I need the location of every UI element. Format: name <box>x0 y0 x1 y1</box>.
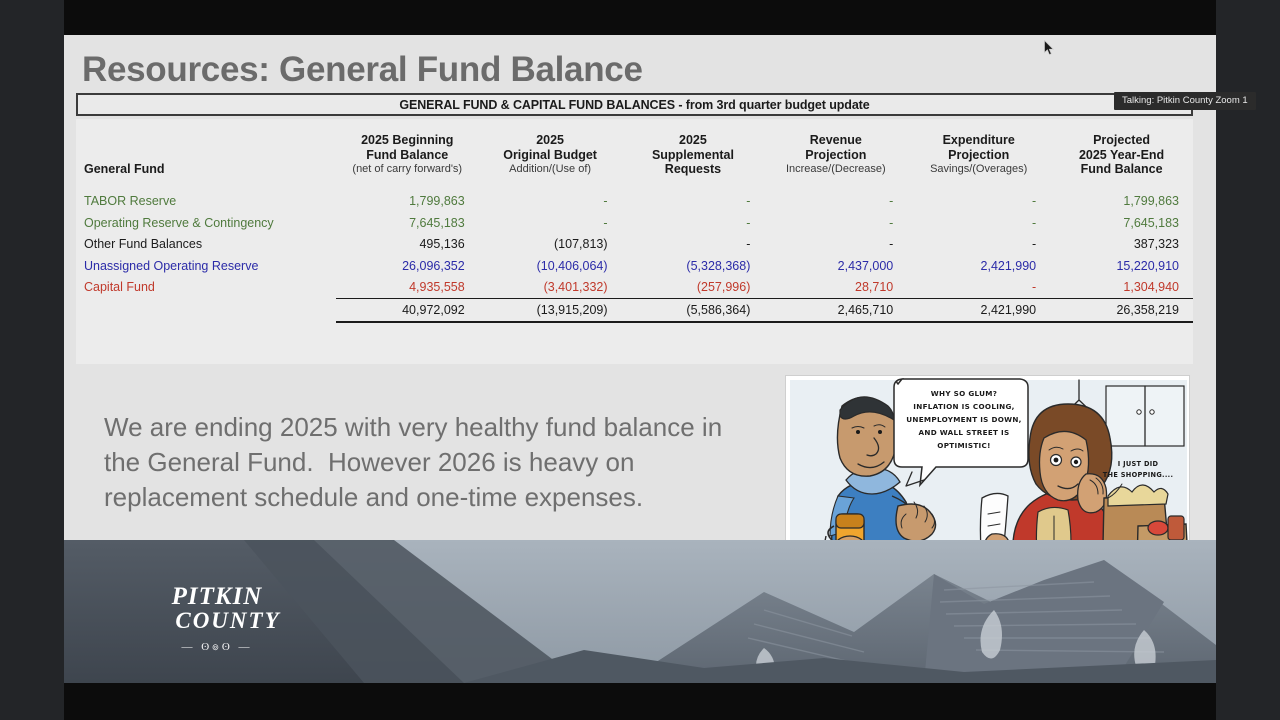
cell: 28,710 <box>764 277 907 299</box>
cell: (5,328,368) <box>622 255 765 277</box>
col1-line2: Original Budget <box>503 148 597 162</box>
table-row: TABOR Reserve 1,799,863 - - - - 1,799,86… <box>76 191 1193 213</box>
cell: - <box>622 191 765 213</box>
column-header-5: Projected 2025 Year-End Fund Balance <box>1050 133 1193 177</box>
mountain-photo <box>64 540 1216 683</box>
col4-line2: Projection <box>948 148 1009 162</box>
table-row: Unassigned Operating Reserve 26,096,352 … <box>76 255 1193 277</box>
total-cell: 26,358,219 <box>1050 298 1193 322</box>
letterbox-top <box>64 0 1216 35</box>
screen-share-view: Resources: General Fund Balance GENERAL … <box>0 0 1280 720</box>
cell: - <box>622 234 765 256</box>
footer-mountain-banner: PITKIN COUNTY — ʘ๏ʘ — <box>64 540 1216 683</box>
page-title: Resources: General Fund Balance <box>82 50 643 90</box>
col2-line1: 2025 <box>679 133 707 147</box>
bubble-right-line-2: THE SHOPPING.... <box>1103 471 1174 479</box>
bubble-right-line-1: I JUST DID <box>1118 460 1159 468</box>
col3-line2: Projection <box>805 148 866 162</box>
table-caption-text: GENERAL FUND & CAPITAL FUND BALANCES - f… <box>399 98 869 112</box>
column-header-general-fund: General Fund <box>76 133 336 177</box>
col5-sub: Fund Balance <box>1050 162 1193 177</box>
col4-line1: Expenditure <box>943 133 1015 147</box>
column-header-1: 2025 Original Budget Addition/(Use of) <box>479 133 622 177</box>
cell: - <box>479 212 622 234</box>
col0-sub: (net of carry forward's) <box>336 162 479 177</box>
column-header-3: Revenue Projection Increase/(Decrease) <box>764 133 907 177</box>
cell: - <box>479 191 622 213</box>
col3-sub: Increase/(Decrease) <box>764 162 907 177</box>
mouse-cursor <box>1044 40 1055 56</box>
total-cell: 40,972,092 <box>336 298 479 322</box>
cell: (3,401,332) <box>479 277 622 299</box>
cell: - <box>907 212 1050 234</box>
total-cell: 2,421,990 <box>907 298 1050 322</box>
cell: - <box>764 212 907 234</box>
col2-line2: Supplemental <box>652 148 734 162</box>
cell: (257,996) <box>622 277 765 299</box>
cell: 387,323 <box>1050 234 1193 256</box>
table-caption-band: GENERAL FUND & CAPITAL FUND BALANCES - f… <box>76 93 1193 116</box>
cell: 2,421,990 <box>907 255 1050 277</box>
bubble-left-line-5: OPTIMISTIC! <box>937 441 990 450</box>
bubble-left-line-1: WHY SO GLUM? <box>931 389 997 398</box>
cell: 495,136 <box>336 234 479 256</box>
col5-line1: Projected <box>1093 133 1150 147</box>
cell: (10,406,064) <box>479 255 622 277</box>
bubble-left-line-3: UNEMPLOYMENT IS DOWN, <box>906 415 1021 424</box>
total-label <box>76 298 336 322</box>
table-row: Operating Reserve & Contingency 7,645,18… <box>76 212 1193 234</box>
col4-sub: Savings/(Overages) <box>907 162 1050 177</box>
col0-line2: Fund Balance <box>366 148 448 162</box>
row-label: Operating Reserve & Contingency <box>76 212 336 234</box>
cell: - <box>764 234 907 256</box>
column-header-0: 2025 Beginning Fund Balance (net of carr… <box>336 133 479 177</box>
fund-balance-table-container: General Fund 2025 Beginning Fund Balance… <box>76 119 1193 364</box>
total-cell: (5,586,364) <box>622 298 765 322</box>
cell: - <box>764 191 907 213</box>
total-cell: 2,465,710 <box>764 298 907 322</box>
table-top-spacer <box>76 119 1193 133</box>
table-total-row: 40,972,092 (13,915,209) (5,586,364) 2,46… <box>76 298 1193 322</box>
row-label: Unassigned Operating Reserve <box>76 255 336 277</box>
col0-line1: 2025 Beginning <box>361 133 453 147</box>
cell: 2,437,000 <box>764 255 907 277</box>
cell: - <box>622 212 765 234</box>
row-label: Other Fund Balances <box>76 234 336 256</box>
cell: 7,645,183 <box>336 212 479 234</box>
table-header-spacer <box>76 177 1193 191</box>
cell: - <box>907 234 1050 256</box>
active-speaker-indicator: Talking: Pitkin County Zoom 1 <box>1114 92 1256 110</box>
slide-body-text: We are ending 2025 with very healthy fun… <box>104 410 744 515</box>
column-header-4: Expenditure Projection Savings/(Overages… <box>907 133 1050 177</box>
cell: 1,799,863 <box>1050 191 1193 213</box>
column-header-2: 2025 Supplemental Requests <box>622 133 765 177</box>
row-label: Capital Fund <box>76 277 336 299</box>
cell: 15,220,910 <box>1050 255 1193 277</box>
col1-line1: 2025 <box>536 133 564 147</box>
cell: (107,813) <box>479 234 622 256</box>
table-row: Other Fund Balances 495,136 (107,813) - … <box>76 234 1193 256</box>
presentation-slide: Resources: General Fund Balance GENERAL … <box>64 35 1216 683</box>
cell: 7,645,183 <box>1050 212 1193 234</box>
letterbox-left <box>0 0 64 720</box>
cell: - <box>907 191 1050 213</box>
cell: 1,799,863 <box>336 191 479 213</box>
cell: 1,304,940 <box>1050 277 1193 299</box>
col5-line2: 2025 Year-End <box>1079 148 1164 162</box>
cell: - <box>907 277 1050 299</box>
bubble-left-line-4: AND WALL STREET IS <box>919 428 1010 437</box>
col1-sub: Addition/(Use of) <box>479 162 622 177</box>
cell: 26,096,352 <box>336 255 479 277</box>
table-header-row: General Fund 2025 Beginning Fund Balance… <box>76 133 1193 177</box>
row-label: TABOR Reserve <box>76 191 336 213</box>
table-row: Capital Fund 4,935,558 (3,401,332) (257,… <box>76 277 1193 299</box>
letterbox-bottom <box>64 683 1216 720</box>
col3-line1: Revenue <box>810 133 862 147</box>
fund-balance-table: General Fund 2025 Beginning Fund Balance… <box>76 119 1193 323</box>
bubble-left-line-2: INFLATION IS COOLING, <box>913 402 1014 411</box>
total-cell: (13,915,209) <box>479 298 622 322</box>
col2-sub: Requests <box>622 162 765 177</box>
cell: 4,935,558 <box>336 277 479 299</box>
